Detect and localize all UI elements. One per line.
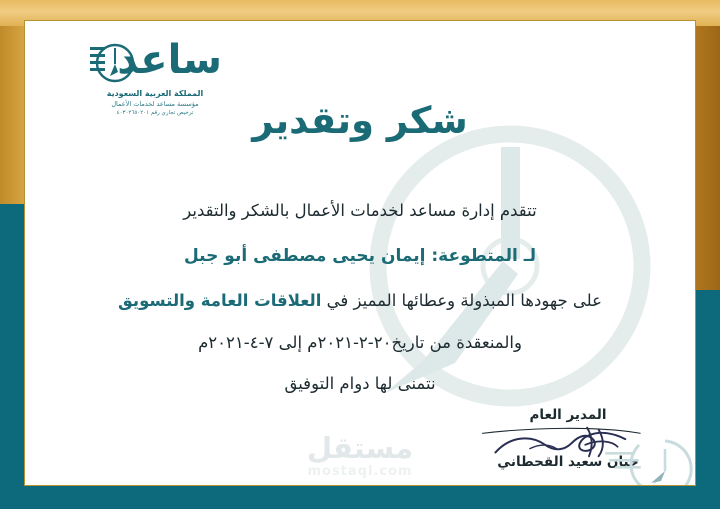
body-line-reason: على جهودها المبذولة وعطائها المميز في ال… <box>25 279 695 323</box>
recipient-name-line: لـ المتطوعة: إيمان يحيى مصطفى أبو جبل <box>25 233 695 279</box>
logo-clock-icon <box>88 37 136 85</box>
certificate-frame: ساعد المملكة العربية السعودية مؤسسة مساع… <box>0 0 720 509</box>
speed-clock-icon <box>603 431 695 486</box>
body-line-dates: والمنعقدة من تاريخ٢٠-٢-٢٠٢١م إلى ٧-٤-٢٠٢… <box>25 323 695 363</box>
body-line-wish: نتمنى لها دوام التوفيق <box>25 363 695 405</box>
reason-department: العلاقات العامة والتسويق <box>118 291 321 310</box>
certificate-title: شكر وتقدير <box>25 99 695 142</box>
certificate-body: تتقدم إدارة مساعد لخدمات الأعمال بالشكر … <box>25 189 695 405</box>
logo-mark: ساعد <box>80 33 230 87</box>
logo-subtitle-kingdom: المملكة العربية السعودية <box>70 88 240 99</box>
reason-prefix: على جهودها المبذولة وعطائها المميز في <box>321 291 602 310</box>
body-line-intro: تتقدم إدارة مساعد لخدمات الأعمال بالشكر … <box>25 189 695 233</box>
certificate-card: ساعد المملكة العربية السعودية مؤسسة مساع… <box>24 20 696 486</box>
